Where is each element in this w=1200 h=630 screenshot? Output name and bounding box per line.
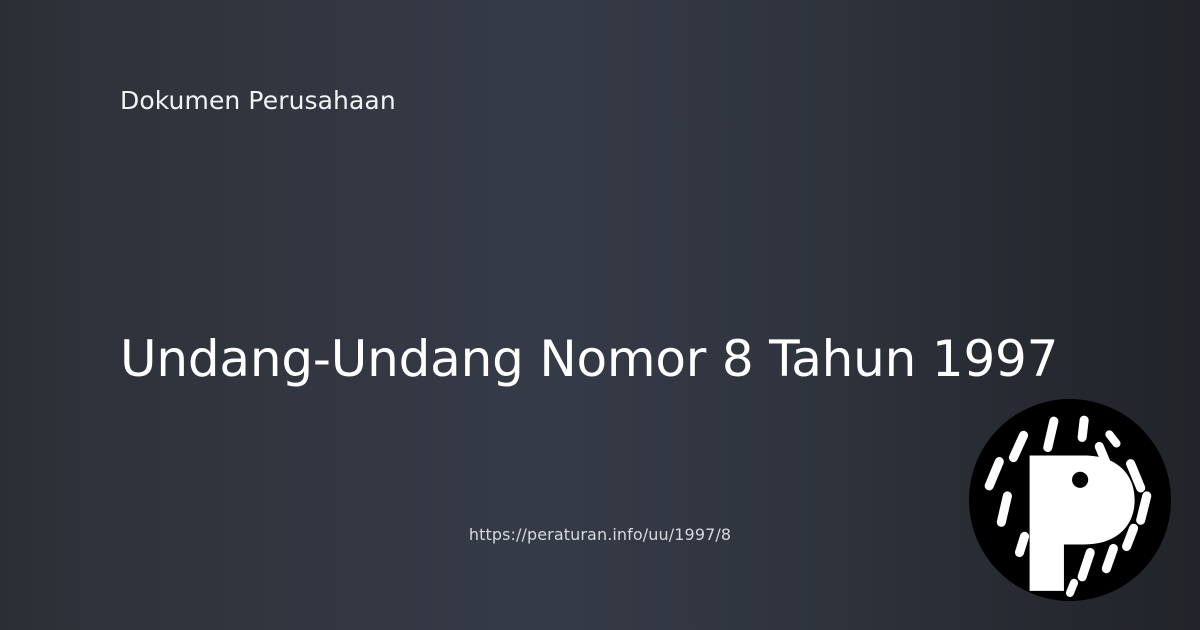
logo-eye-dot (1072, 472, 1088, 488)
peraturan-logo-icon (969, 399, 1171, 601)
card-kicker: Dokumen Perusahaan (120, 86, 396, 116)
social-share-card: Dokumen Perusahaan Undang-Undang Nomor 8… (0, 0, 1200, 630)
page-title: Undang-Undang Nomor 8 Tahun 1997 (120, 331, 1120, 387)
site-logo (969, 399, 1171, 601)
